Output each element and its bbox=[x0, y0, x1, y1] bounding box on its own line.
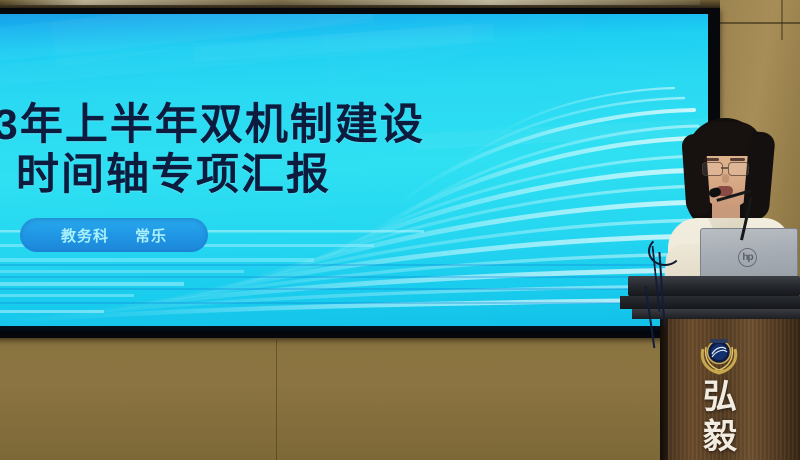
lower-wall-seam bbox=[276, 340, 277, 460]
screen-bottom-shadow bbox=[0, 326, 720, 334]
podium-inscription-char-2: 毅 bbox=[692, 418, 748, 458]
hp-logo-icon: hp bbox=[738, 248, 757, 267]
ceiling-light-reflection bbox=[0, 0, 700, 5]
presentation-scene: 23年上半年双机制建设 时间轴专项汇报 教务科 常乐 hp bbox=[0, 0, 800, 460]
podium-shelf bbox=[632, 309, 800, 319]
glasses-lens-right-icon bbox=[728, 162, 749, 176]
podium-desktop bbox=[628, 276, 800, 296]
cable-loop bbox=[648, 236, 682, 266]
podium-inscription-char-1: 弘 bbox=[692, 378, 748, 418]
slide-title-line-1: 23年上半年双机制建设 bbox=[0, 100, 568, 150]
presenter-eyebrow-left bbox=[704, 158, 719, 161]
right-wall-vertical-seam bbox=[781, 0, 783, 40]
right-wall-horizontal-seam bbox=[718, 22, 800, 24]
slide-presenter-label: 常乐 bbox=[135, 225, 167, 246]
slide-department-label: 教务科 bbox=[61, 225, 109, 246]
glasses-lens-left-icon bbox=[702, 162, 723, 176]
institution-crest-icon bbox=[697, 335, 741, 375]
presenter-eyebrow-right bbox=[730, 158, 745, 161]
led-screen: 23年上半年双机制建设 时间轴专项汇报 教务科 常乐 bbox=[0, 14, 708, 332]
slide-title-line-2: 时间轴专项汇报 bbox=[0, 150, 568, 200]
slide-subtitle-badge: 教务科 常乐 bbox=[20, 218, 208, 252]
slide-title: 23年上半年双机制建设 时间轴专项汇报 bbox=[0, 100, 568, 200]
presenter-nose bbox=[722, 174, 729, 183]
glasses-bridge-icon bbox=[721, 167, 728, 169]
podium-inscription: 弘 毅 bbox=[692, 378, 748, 458]
podium-front-lip bbox=[620, 296, 800, 309]
